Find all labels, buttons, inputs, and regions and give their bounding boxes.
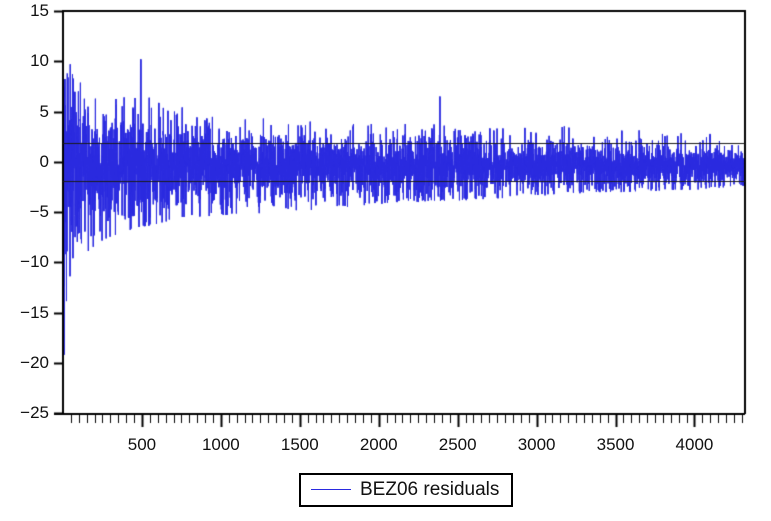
y-axis-tick-label: 5 xyxy=(40,103,49,120)
y-axis-tick-label: 15 xyxy=(30,2,49,19)
x-axis-tick-label: 4000 xyxy=(664,436,724,453)
y-axis-tick-label: −10 xyxy=(20,253,49,270)
x-axis-tick-label: 3500 xyxy=(586,436,646,453)
y-axis-tick-label: −15 xyxy=(20,304,49,321)
chart-root: 151050−5−10−15−20−25 5001000150020002500… xyxy=(0,0,771,521)
x-axis-tick-label: 1500 xyxy=(270,436,330,453)
y-axis-tick-label: −25 xyxy=(20,404,49,421)
x-axis-tick-label: 1000 xyxy=(191,436,251,453)
y-axis-tick-label: −5 xyxy=(30,203,49,220)
x-axis-tick-label: 2500 xyxy=(428,436,488,453)
x-axis-tick-label: 2000 xyxy=(349,436,409,453)
y-axis-tick-label: 10 xyxy=(30,52,49,69)
chart-legend: BEZ06 residuals xyxy=(299,473,513,507)
x-axis-tick-label: 3000 xyxy=(507,436,567,453)
y-axis-tick-label: −20 xyxy=(20,354,49,371)
x-axis-tick-label: 500 xyxy=(112,436,172,453)
legend-entry-label: BEZ06 residuals xyxy=(360,480,499,499)
legend-line-swatch xyxy=(311,489,351,490)
y-axis-tick-label: 0 xyxy=(40,153,49,170)
